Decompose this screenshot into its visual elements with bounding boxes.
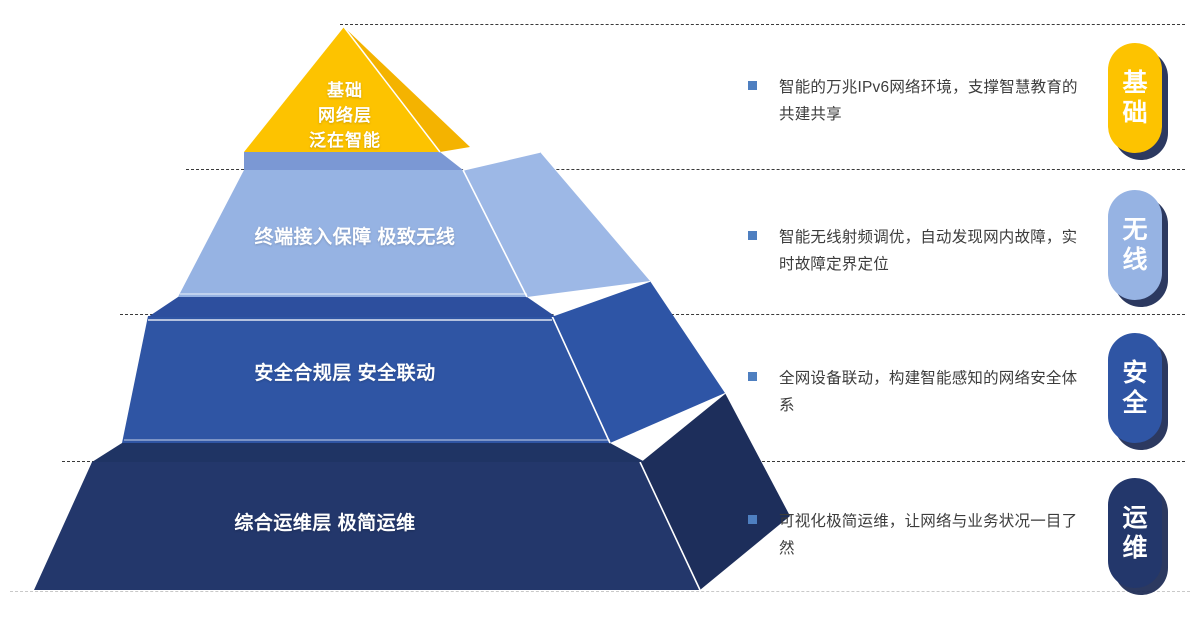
layer-operations-base <box>34 462 700 590</box>
description-text: 智能的万兆IPv6网络环境，支撑智慧教育的共建共享 <box>779 74 1088 128</box>
description-foundation: 智能的万兆IPv6网络环境，支撑智慧教育的共建共享 <box>748 74 1088 128</box>
bullet-square-icon <box>748 231 757 240</box>
layer-security-shadowbase <box>92 443 645 462</box>
badge-wrap-foundation: 基础 <box>1108 43 1170 153</box>
layer-foundation-face <box>244 27 440 152</box>
pyramid-graphic <box>0 0 800 620</box>
description-text: 可视化极简运维，让网络与业务状况一目了然 <box>779 508 1088 562</box>
badge-wrap-wireless: 无线 <box>1108 190 1170 300</box>
badge-char: 无 <box>1122 215 1147 245</box>
description-wireless: 智能无线射频调优，自动发现网内故障，实时故障定界定位 <box>748 224 1088 278</box>
pyramid-layer-foundation[interactable] <box>244 27 470 170</box>
badge-wrap-security: 安全 <box>1108 333 1170 443</box>
badge-char: 全 <box>1122 388 1147 418</box>
badge-wireless[interactable]: 无线 <box>1108 190 1162 300</box>
badge-foundation[interactable]: 基础 <box>1108 43 1162 153</box>
badge-wrap-operations: 运维 <box>1108 478 1170 588</box>
bullet-square-icon <box>748 372 757 381</box>
pyramid-diagram: 基础 网络层 泛在智能 终端接入保障 极致无线 安全合规层 安全联动 综合运维层… <box>0 0 1200 620</box>
badge-security[interactable]: 安全 <box>1108 333 1162 443</box>
badge-operations[interactable]: 运维 <box>1108 478 1162 588</box>
badge-char: 础 <box>1122 98 1147 128</box>
badge-char: 运 <box>1122 503 1147 533</box>
bullet-square-icon <box>748 81 757 90</box>
description-operations: 可视化极简运维，让网络与业务状况一目了然 <box>748 508 1088 562</box>
badge-char: 线 <box>1122 245 1147 275</box>
badge-char: 基 <box>1122 68 1147 98</box>
badge-char: 安 <box>1122 358 1147 388</box>
description-security: 全网设备联动，构建智能感知的网络安全体系 <box>748 365 1088 419</box>
bullet-square-icon <box>748 515 757 524</box>
description-text: 全网设备联动，构建智能感知的网络安全体系 <box>779 365 1088 419</box>
layer-wireless-shadowbase <box>148 297 556 317</box>
layer-security-face <box>122 316 610 443</box>
badge-char: 维 <box>1122 533 1147 563</box>
layer-foundation-base <box>244 152 463 170</box>
description-text: 智能无线射频调优，自动发现网内故障，实时故障定界定位 <box>779 224 1088 278</box>
pyramid-layer-wireless[interactable] <box>148 148 650 317</box>
